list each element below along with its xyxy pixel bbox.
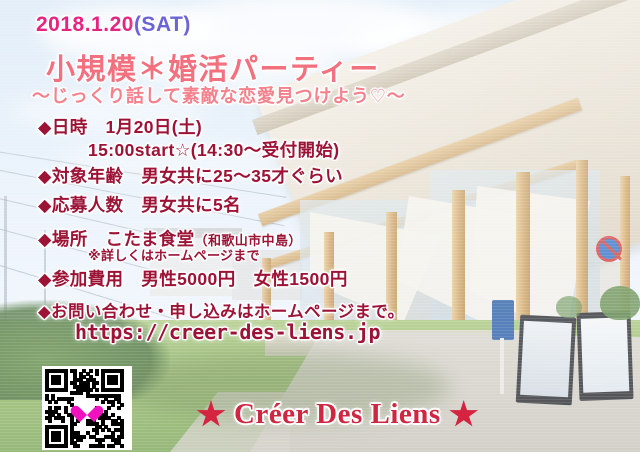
website-url[interactable]: https://creer-des-liens.jp [75,320,380,344]
detail-datetime: ◆日時 1月20日(土) [38,114,202,139]
event-date-line: 2018.1.20(SAT) [36,13,191,37]
qr-code[interactable] [42,366,132,450]
flyer-canvas: 2018.1.20(SAT) 小規模＊婚活パーティー 〜じっくり話して素敵な恋愛… [0,0,640,452]
detail-capacity: ◆応募人数 男女共に5名 [38,192,241,217]
brand-name: Créer Des Liens [234,398,441,431]
detail-agerange: ◆対象年齢 男女共に25〜35才ぐらい [38,163,343,188]
detail-fee: ◆参加費用 男性5000円 女性1500円 [38,266,348,291]
detail-note: ※詳しくはホームページまで [88,245,260,264]
detail-starttime: 15:00start☆(14:30〜受付開始) [88,137,340,162]
event-weekday: (SAT) [134,13,191,36]
page-subtitle: 〜じっくり話して素敵な恋愛見つけよう♡〜 [32,82,406,108]
event-date: 2018.1.20 [36,13,134,36]
brand-logo: Créer Des Liens [196,398,479,431]
detail-contact: ◆お問い合わせ・申し込みはホームページまで。 [38,298,405,322]
star-icon [449,400,479,429]
star-icon [196,400,226,429]
flyer-content: 2018.1.20(SAT) 小規模＊婚活パーティー 〜じっくり話して素敵な恋愛… [0,0,640,452]
heart-icon [77,399,97,417]
